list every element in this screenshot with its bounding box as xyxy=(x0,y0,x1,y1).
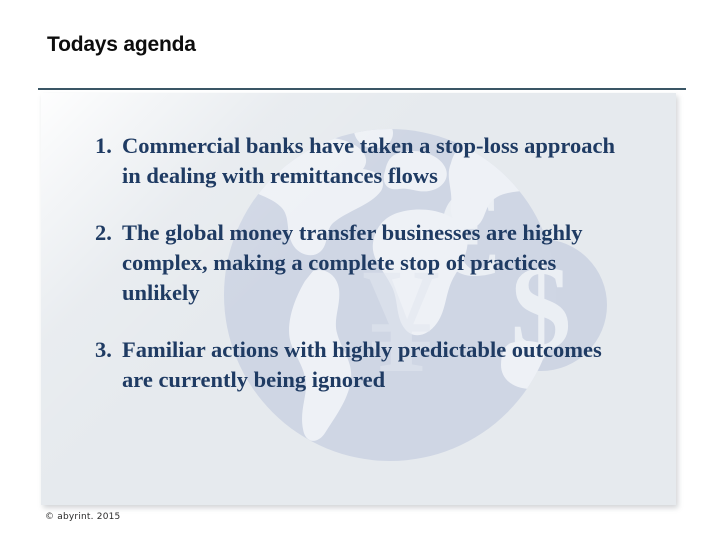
agenda-list: 1. Commercial banks have taken a stop-lo… xyxy=(95,131,615,394)
agenda-item-2: 2. The global money transfer businesses … xyxy=(95,218,615,308)
agenda-item-2-text: The global money transfer businesses are… xyxy=(122,218,615,308)
agenda-item-1: 1. Commercial banks have taken a stop-lo… xyxy=(95,131,615,191)
title-divider xyxy=(38,88,686,90)
agenda-item-3: 3. Familiar actions with highly predicta… xyxy=(95,335,615,395)
page-title: Todays agenda xyxy=(47,33,196,57)
agenda-item-1-number: 1. xyxy=(95,131,122,161)
agenda-item-1-text: Commercial banks have taken a stop-loss … xyxy=(122,131,615,191)
content-panel: € $ ¥ 1. Commercial banks have taken a s… xyxy=(41,93,676,505)
slide-canvas: Todays agenda xyxy=(0,0,720,540)
agenda-item-3-number: 3. xyxy=(95,335,122,365)
agenda-item-3-text: Familiar actions with highly predictable… xyxy=(122,335,615,395)
footer-copyright: © abyrint. 2015 xyxy=(45,512,120,522)
agenda-item-2-number: 2. xyxy=(95,218,122,248)
